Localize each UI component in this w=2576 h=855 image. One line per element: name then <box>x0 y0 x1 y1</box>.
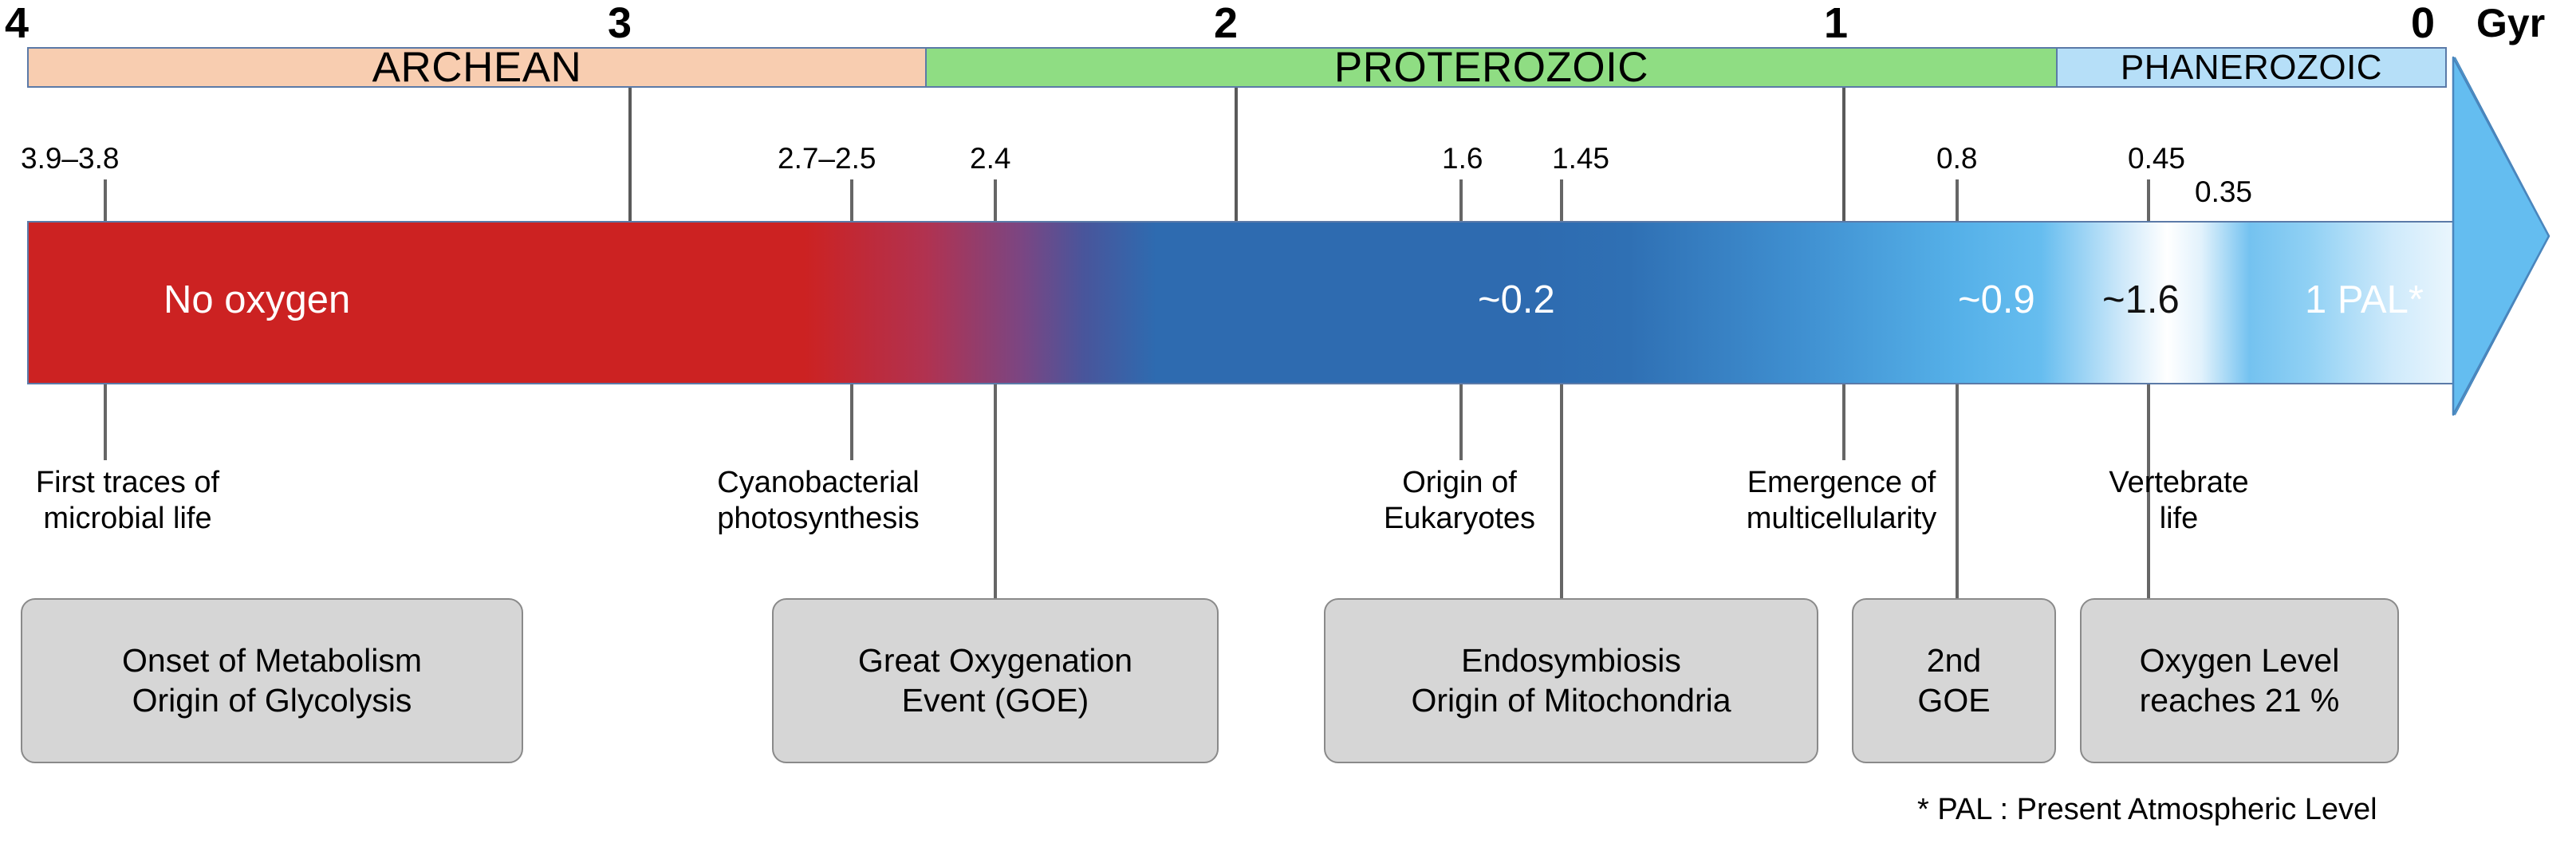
era-segment-archean[interactable]: ARCHEAN <box>29 49 927 86</box>
axis-unit-label: Gyr <box>2476 3 2545 43</box>
tick-value-0.45: 0.45 <box>2128 144 2185 173</box>
event-caption-vertebrate-line2: life <box>2051 501 2306 537</box>
tick-value-3.9-3.8: 3.9–3.8 <box>21 144 119 173</box>
era-segment-proterozoic[interactable]: PROTEROZOIC <box>927 49 2058 86</box>
event-box-endosymbiosis[interactable]: Endosymbiosis Origin of Mitochondria <box>1324 598 1818 763</box>
event-caption-eukaryotes-line2: Eukaryotes <box>1332 501 1587 537</box>
tick-value-1.6: 1.6 <box>1442 144 1483 173</box>
event-caption-first-traces: First traces of microbial life <box>0 465 255 537</box>
tick-value-1.45: 1.45 <box>1552 144 1609 173</box>
major-tick-3 <box>628 88 632 222</box>
era-label-proterozoic: PROTEROZOIC <box>1334 46 1648 89</box>
oxygen-label-0.2: ~0.2 <box>1478 281 1555 320</box>
event-box-onset-metabolism-line2: Origin of Glycolysis <box>132 681 412 720</box>
time-arrow-head-outline <box>2393 48 2576 423</box>
axis-tick-label-2: 2 <box>1214 2 1238 45</box>
event-caption-multicellularity-line2: multicellularity <box>1668 501 2015 537</box>
event-tick-top-3.9-3.8 <box>104 179 107 222</box>
event-caption-vertebrate: Vertebrate life <box>2051 465 2306 537</box>
major-tick-1 <box>1842 88 1845 222</box>
era-label-phanerozoic: PHANEROZOIC <box>2121 50 2382 85</box>
event-tick-top-0.45 <box>2147 179 2150 222</box>
axis-tick-label-4: 4 <box>5 2 29 45</box>
event-caption-cyanobacterial-line1: Cyanobacterial <box>691 465 946 501</box>
event-box-great-oxygenation-event-line1: Great Oxygenation <box>858 641 1132 680</box>
oxygen-label-1.6: ~1.6 <box>2102 281 2180 320</box>
tick-value-0.8: 0.8 <box>1936 144 1977 173</box>
oxygen-timeline-diagram: 4 3 2 1 0 Gyr ARCHEAN PROTEROZOIC PHANER… <box>0 0 2576 855</box>
oxygen-label-0.9: ~0.9 <box>1958 281 2035 320</box>
event-caption-first-traces-line2: microbial life <box>0 501 255 537</box>
event-box-2nd-goe-line1: 2nd <box>1927 641 1981 680</box>
event-tick-top-2.7-2.5 <box>850 179 853 222</box>
geologic-era-bar: ARCHEAN PROTEROZOIC PHANEROZOIC <box>27 47 2447 88</box>
event-tick-top-1.6 <box>1459 179 1463 222</box>
footnote-pal: * PAL : Present Atmospheric Level <box>1917 794 2377 825</box>
event-box-great-oxygenation-event[interactable]: Great Oxygenation Event (GOE) <box>772 598 1219 763</box>
event-box-2nd-goe[interactable]: 2nd GOE <box>1852 598 2056 763</box>
event-tick-bottom-goe <box>994 384 997 600</box>
tick-value-0.35: 0.35 <box>2195 177 2252 207</box>
era-segment-phanerozoic[interactable]: PHANEROZOIC <box>2058 49 2445 86</box>
event-tick-bottom-multicellular <box>1842 384 1845 460</box>
event-box-endosymbiosis-line2: Origin of Mitochondria <box>1411 681 1731 720</box>
event-box-onset-metabolism-line1: Onset of Metabolism <box>122 641 422 680</box>
event-box-great-oxygenation-event-line2: Event (GOE) <box>902 681 1089 720</box>
event-box-endosymbiosis-line1: Endosymbiosis <box>1461 641 1681 680</box>
tick-value-2.4: 2.4 <box>970 144 1010 173</box>
event-caption-cyanobacterial-line2: photosynthesis <box>691 501 946 537</box>
event-box-oxygen-21-percent[interactable]: Oxygen Level reaches 21 % <box>2080 598 2399 763</box>
oxygen-label-no-oxygen: No oxygen <box>163 281 350 320</box>
event-caption-multicellularity: Emergence of multicellularity <box>1668 465 2015 537</box>
event-box-oxygen-21-percent-line2: reaches 21 % <box>2140 681 2340 720</box>
event-caption-eukaryotes-line1: Origin of <box>1332 465 1587 501</box>
tick-value-2.7-2.5: 2.7–2.5 <box>778 144 876 173</box>
event-box-onset-metabolism[interactable]: Onset of Metabolism Origin of Glycolysis <box>21 598 523 763</box>
major-tick-2 <box>1235 88 1238 222</box>
event-tick-bottom-eukaryotes <box>1459 384 1463 460</box>
event-caption-multicellularity-line1: Emergence of <box>1668 465 2015 501</box>
axis-tick-label-1: 1 <box>1824 2 1848 45</box>
event-caption-eukaryotes: Origin of Eukaryotes <box>1332 465 1587 537</box>
oxygen-label-1-pal: 1 PAL* <box>2305 281 2424 320</box>
event-tick-top-0.8 <box>1956 179 1959 222</box>
event-caption-cyanobacterial: Cyanobacterial photosynthesis <box>691 465 946 537</box>
event-box-oxygen-21-percent-line1: Oxygen Level <box>2140 641 2340 680</box>
event-box-2nd-goe-line2: GOE <box>1917 681 1990 720</box>
oxygen-level-gradient-bar <box>27 221 2455 384</box>
event-caption-first-traces-line1: First traces of <box>0 465 255 501</box>
event-tick-bottom-cyanobacterial <box>850 384 853 460</box>
event-caption-vertebrate-line1: Vertebrate <box>2051 465 2306 501</box>
axis-tick-label-3: 3 <box>608 2 632 45</box>
axis-tick-label-0: 0 <box>2411 2 2435 45</box>
event-tick-top-2.4 <box>994 179 997 222</box>
event-tick-bottom-first-traces <box>104 384 107 460</box>
event-tick-top-1.45 <box>1560 179 1563 222</box>
era-label-archean: ARCHEAN <box>372 46 582 89</box>
